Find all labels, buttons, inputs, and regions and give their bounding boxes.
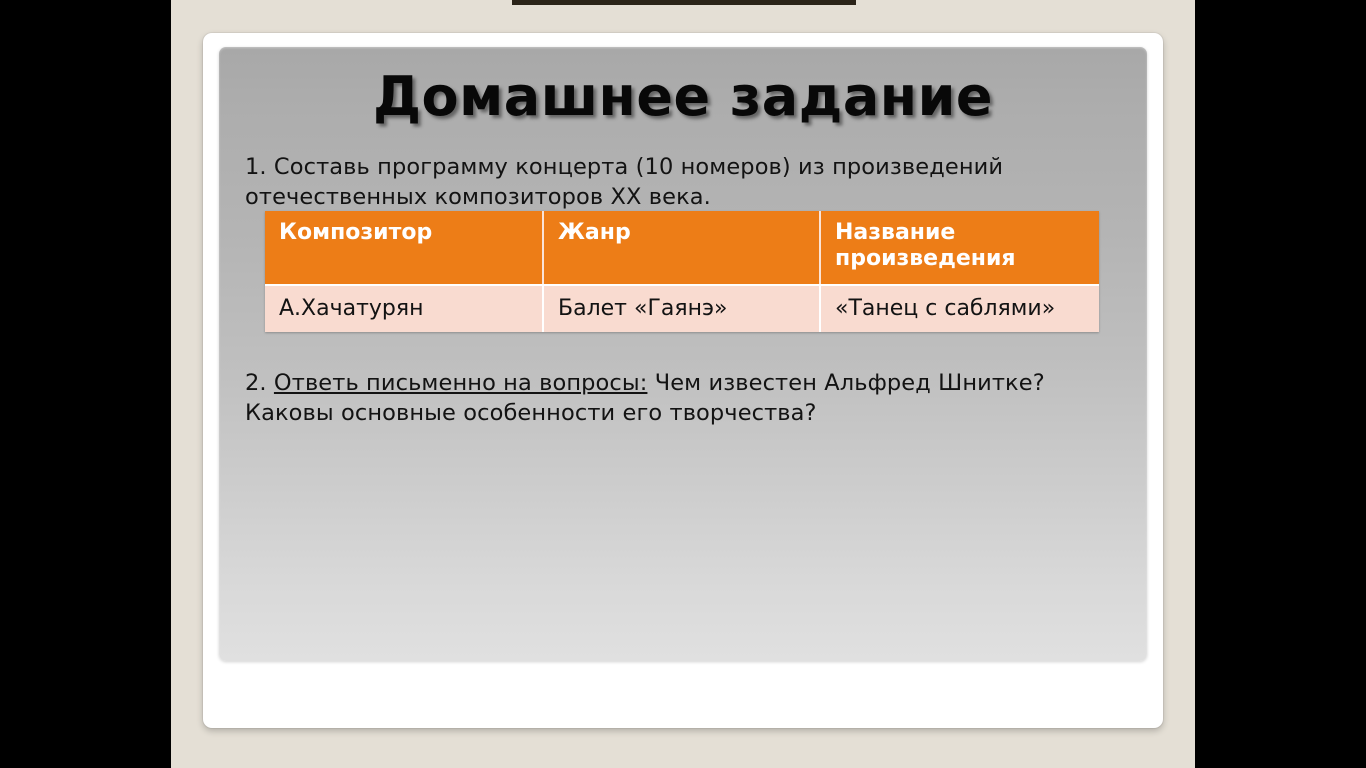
previous-slide-edge-strip <box>512 0 856 5</box>
presentation-stage: Домашнее задание 1. Составь программу ко… <box>0 0 1366 768</box>
table-header-work-title: Название произведения <box>821 211 1099 284</box>
table-row: А.Хачатурян Балет «Гаянэ» «Танец с сабля… <box>265 284 1099 332</box>
slide-title: Домашнее задание <box>219 65 1147 128</box>
table-cell-work-title: «Танец с саблями» <box>821 284 1099 332</box>
task-two-text: 2. Ответь письменно на вопросы: Чем изве… <box>245 369 1075 429</box>
task-one-text: 1. Составь программу концерта (10 номеро… <box>245 153 1035 213</box>
table-cell-genre: Балет «Гаянэ» <box>544 284 821 332</box>
homework-table: Композитор Жанр Название произведения А.… <box>265 211 1099 332</box>
task-two-underlined-instruction: Ответь письменно на вопросы: <box>274 370 648 396</box>
table-header-row: Композитор Жанр Название произведения <box>265 211 1099 284</box>
table-cell-composer: А.Хачатурян <box>265 284 544 332</box>
slide-content-panel: Домашнее задание 1. Составь программу ко… <box>219 47 1147 661</box>
task-two-number: 2. <box>245 370 274 396</box>
table-header-composer: Композитор <box>265 211 544 284</box>
table-header-genre: Жанр <box>544 211 821 284</box>
